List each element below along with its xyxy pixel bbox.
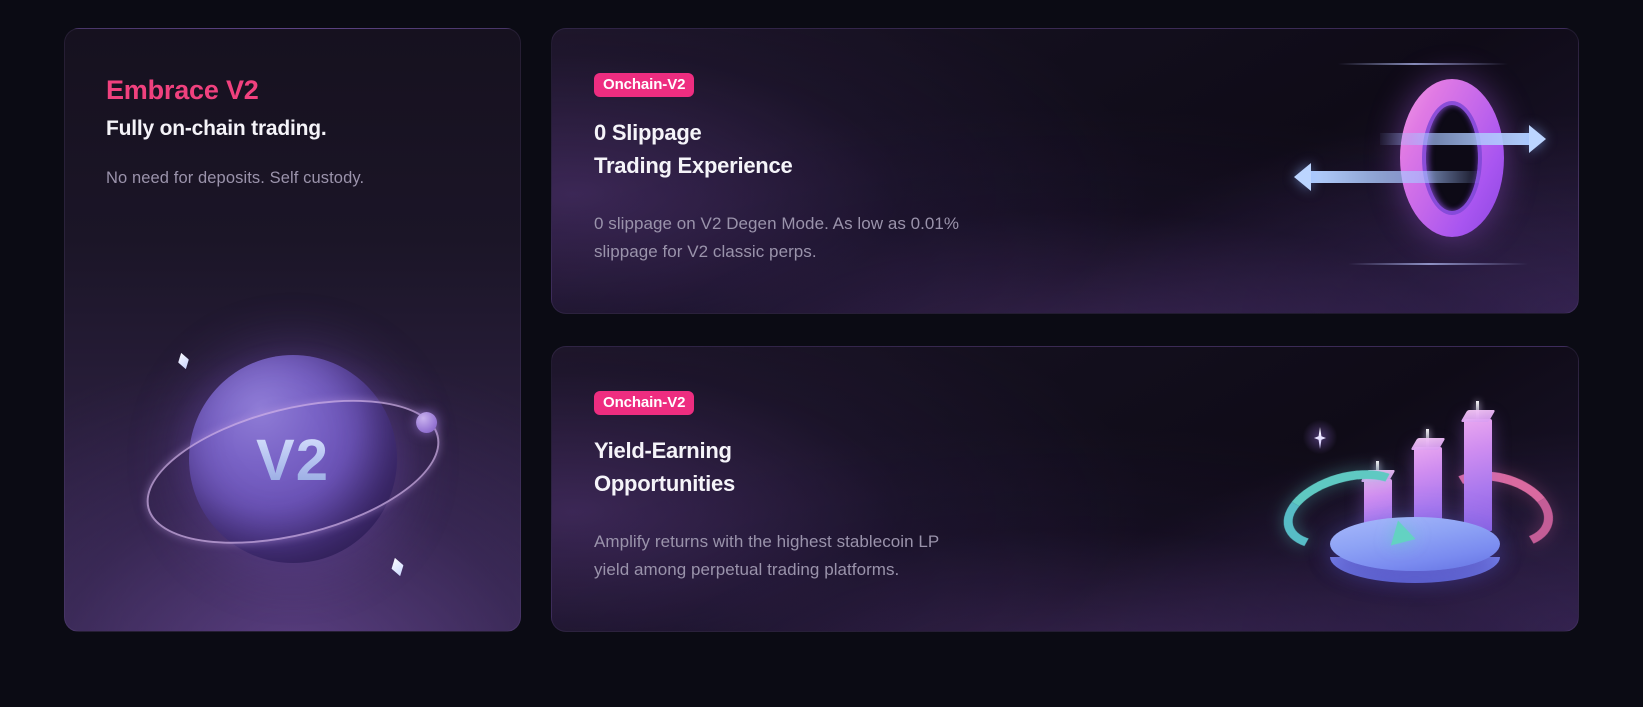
zero-glyph-inner-edge <box>1422 101 1482 215</box>
title-line-2: Trading Experience <box>594 149 1124 182</box>
yield-earning-body: Amplify returns with the highest stablec… <box>594 528 1124 585</box>
title-line-2: Opportunities <box>594 467 1124 500</box>
left-card-text: Embrace V2 Fully on-chain trading. No ne… <box>106 75 496 191</box>
light-streak <box>1338 63 1508 65</box>
body-line-2: yield among perpetual trading platforms. <box>594 556 1124 585</box>
yield-earning-card[interactable]: Onchain-V2 Yield-Earning Opportunities A… <box>551 346 1579 632</box>
feature-cards-page: Embrace V2 Fully on-chain trading. No ne… <box>0 0 1643 707</box>
body-line-1: Amplify returns with the highest stablec… <box>594 528 1124 557</box>
zero-slippage-illustration <box>1288 49 1548 279</box>
body-line-1: 0 slippage on V2 Degen Mode. As low as 0… <box>594 210 1124 239</box>
v2-planet-illustration: V2 <box>65 309 520 609</box>
arrow-left-icon <box>1310 171 1480 183</box>
title-line-1: Yield-Earning <box>594 434 1124 467</box>
embrace-v2-body: No need for deposits. Self custody. <box>106 167 496 191</box>
arrow-right-icon <box>1380 133 1530 145</box>
right-column: Onchain-V2 0 Slippage Trading Experience… <box>551 28 1579 632</box>
status-badge: Onchain-V2 <box>594 391 694 415</box>
zero-slippage-card[interactable]: Onchain-V2 0 Slippage Trading Experience… <box>551 28 1579 314</box>
candle-bar <box>1464 419 1492 531</box>
candle-face <box>1464 419 1492 531</box>
zero-slippage-title: 0 Slippage Trading Experience <box>594 116 1124 183</box>
left-column: Embrace V2 Fully on-chain trading. No ne… <box>64 28 521 632</box>
yield-earning-title: Yield-Earning Opportunities <box>594 434 1124 501</box>
cards-grid: Embrace V2 Fully on-chain trading. No ne… <box>64 28 1579 632</box>
embrace-v2-heading: Embrace V2 <box>106 75 496 107</box>
yield-candles-illustration <box>1290 375 1540 595</box>
embrace-v2-card[interactable]: Embrace V2 Fully on-chain trading. No ne… <box>64 28 521 632</box>
zero-slippage-text: Onchain-V2 0 Slippage Trading Experience… <box>594 73 1124 267</box>
orbit-moon <box>416 412 437 433</box>
zero-glyph-icon <box>1400 79 1504 237</box>
light-streak <box>1348 263 1528 265</box>
status-badge: Onchain-V2 <box>594 73 694 97</box>
zero-slippage-body: 0 slippage on V2 Degen Mode. As low as 0… <box>594 210 1124 267</box>
title-line-1: 0 Slippage <box>594 116 1124 149</box>
yield-earning-text: Onchain-V2 Yield-Earning Opportunities A… <box>594 391 1124 585</box>
embrace-v2-subheading: Fully on-chain trading. <box>106 116 496 141</box>
body-line-2: slippage for V2 classic perps. <box>594 238 1124 267</box>
